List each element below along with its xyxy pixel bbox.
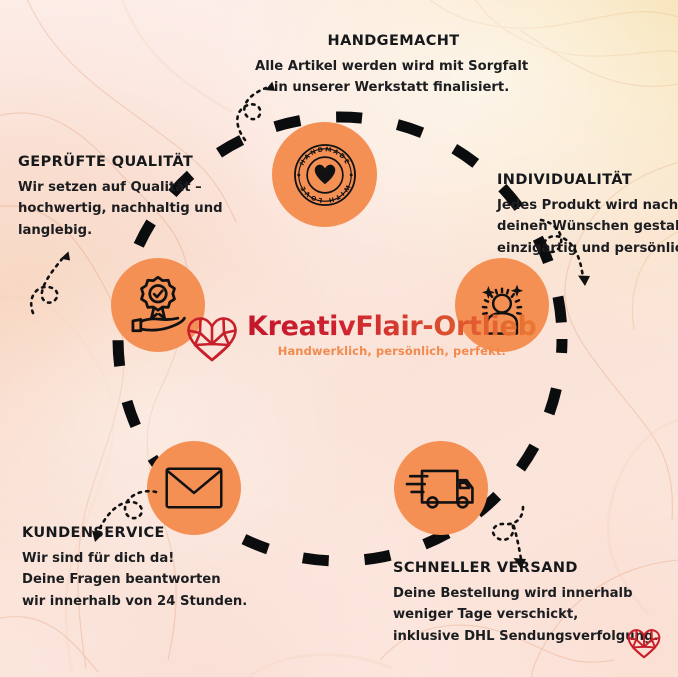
feature-line: langlebig. <box>18 220 223 241</box>
geometric-heart-icon <box>627 628 661 659</box>
brand-logo[interactable]: KreativFlair-Ortlieb Handwerklich, persö… <box>186 312 456 374</box>
feature-title-quality: GEPRÜFTE QUALITÄT <box>18 154 223 170</box>
feature-line: hochwertig, nachhaltig und <box>18 198 223 219</box>
feature-line: Jedes Produkt wird nach <box>497 195 678 216</box>
feature-title-shipping: SCHNELLER VERSAND <box>393 560 658 576</box>
feature-text-quality: GEPRÜFTE QUALITÄT Wir setzen auf Qualitä… <box>18 154 223 241</box>
feature-line: Alle Artikel werden wird mit Sorgfalt <box>255 56 528 77</box>
feature-circle-handmade[interactable]: HANDMADE WITH LOVE <box>272 122 377 227</box>
feature-line: inklusive DHL Sendungsverfolgung. <box>393 626 658 647</box>
feature-line: Wir sind für dich da! <box>22 548 247 569</box>
delivery-truck-icon <box>405 452 477 524</box>
feature-text-handmade: HANDGEMACHT Alle Artikel werden wird mit… <box>255 33 528 99</box>
infographic-poster: HANDMADE WITH LOVE <box>0 0 678 677</box>
feature-line: Deine Fragen beantworten <box>22 569 247 590</box>
handmade-with-love-stamp-icon: HANDMADE WITH LOVE <box>287 137 363 213</box>
feature-line: weniger Tage verschickt, <box>393 604 658 625</box>
geometric-heart-icon <box>186 316 238 362</box>
feature-line: Deine Bestellung wird innerhalb <box>393 583 658 604</box>
feature-text-service: KUNDENSERVICE Wir sind für dich da! Dein… <box>22 525 247 612</box>
brand-tagline: Handwerklich, persönlich, perfekt. <box>247 344 537 358</box>
feature-line: einzigartig und persönlich <box>497 238 678 259</box>
feature-title-service: KUNDENSERVICE <box>22 525 247 541</box>
feature-title-handmade: HANDGEMACHT <box>259 33 528 49</box>
feature-circle-shipping[interactable] <box>394 441 488 535</box>
feature-circle-service[interactable] <box>147 441 241 535</box>
feature-line: in unserer Werkstatt finalisiert. <box>255 77 528 98</box>
curly-dotted-arrow-icon <box>28 245 88 317</box>
feature-text-individuality: INDIVIDUALITÄT Jedes Produkt wird nach d… <box>497 172 678 259</box>
feature-title-individuality: INDIVIDUALITÄT <box>497 172 678 188</box>
hand-holding-quality-seal-icon <box>125 272 191 338</box>
brand-name: KreativFlair-Ortlieb <box>247 313 537 340</box>
feature-line: Wir setzen auf Qualität – <box>18 177 223 198</box>
feature-line: deinen Wünschen gestaltet – <box>497 216 678 237</box>
envelope-icon <box>163 457 225 519</box>
feature-text-shipping: SCHNELLER VERSAND Deine Bestellung wird … <box>393 560 658 647</box>
feature-line: wir innerhalb von 24 Stunden. <box>22 591 247 612</box>
